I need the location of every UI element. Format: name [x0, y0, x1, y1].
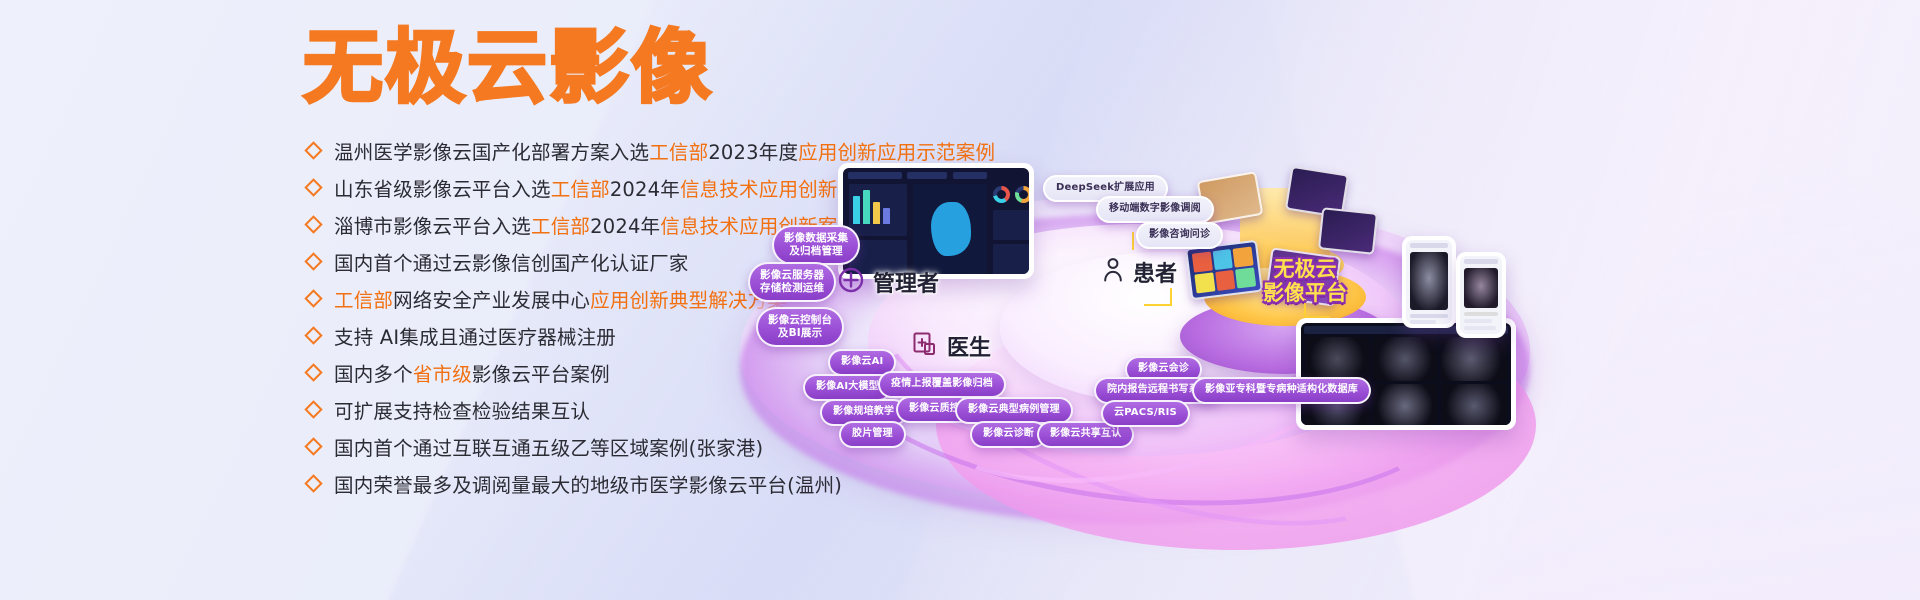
pill-film-management[interactable]: 胶片管理 [839, 421, 906, 448]
bullet-text-segment: 温州医学影像云国产化部署方案入选 [334, 141, 649, 164]
center-badge-line1: 无极云 [1230, 258, 1380, 282]
pill-line: 及归档管理 [784, 245, 848, 258]
pill-line: 存储检测运维 [760, 282, 824, 295]
bullet-text-segment: 影像云平台案例 [472, 363, 610, 386]
pill-image-data-capture[interactable]: 影像数据采集及归档管理 [772, 225, 860, 265]
pill-image-cloud-typical-case[interactable]: 影像云典型病例管理 [955, 397, 1073, 424]
bullet-text-segment: 2024年 [590, 215, 660, 238]
bullet-text-segment: 省市级 [413, 363, 472, 386]
diamond-icon [304, 141, 322, 159]
pill-line: 影像云会诊 [1138, 363, 1189, 376]
diamond-icon [304, 400, 322, 418]
role-patient-label: 患者 [1133, 256, 1177, 288]
bullet-text-segment: 2024年 [610, 178, 680, 201]
pill-line: 云PACS/RIS [1114, 407, 1177, 420]
pill-line: 影像云AI [841, 356, 883, 369]
pill-line: DeepSeek扩展应用 [1056, 182, 1155, 195]
ct-viewer-screen [1301, 323, 1511, 425]
connector-line [1132, 232, 1134, 250]
page-title: 无极云影像 [303, 28, 713, 108]
diamond-icon [304, 363, 322, 381]
medical-record-icon [912, 331, 938, 362]
dashboard-tablet [838, 163, 1034, 279]
pill-line: 影像AI大模型 [816, 381, 879, 394]
role-admin: 管理者 [838, 266, 939, 298]
role-patient: 患者 [1102, 256, 1177, 288]
diamond-icon [304, 252, 322, 270]
pill-line: 疫情上报覆盖影像归档 [891, 378, 993, 391]
platform-diagram: 无极云 影像平台 [700, 0, 1920, 600]
dashboard-screen [843, 168, 1029, 274]
bullet-text-segment: 工信部 [531, 215, 590, 238]
bullet-text-segment: 可扩展支持检查检验结果互认 [334, 400, 590, 423]
pill-rare-disease-db[interactable]: 影像亚专科暨专病种适构化数据库 [1192, 377, 1371, 404]
person-icon [1102, 257, 1124, 288]
bullet-text-segment: 国内首个通过云影像信创国产化认证厂家 [334, 252, 689, 275]
bullet-text-segment: 国内多个 [334, 363, 413, 386]
pill-image-cloud-console[interactable]: 影像云控制台及BI展示 [756, 307, 844, 347]
bullet-text-segment: 支持 AI集成且通过医疗器械注册 [334, 326, 616, 349]
patient-phone-xray [1402, 236, 1456, 328]
feature-bullet-text: 国内首个通过互联互通五级乙等区域案例(张家港) [334, 432, 763, 461]
pill-line: 影像云共享互认 [1050, 428, 1121, 441]
feature-bullet-text: 可扩展支持检查检验结果互认 [334, 395, 590, 424]
role-admin-label: 管理者 [873, 266, 939, 298]
banner-canvas: 无极云影像 温州医学影像云国产化部署方案入选工信部2023年度应用创新应用示范案… [0, 0, 1920, 600]
pill-line: 胶片管理 [852, 428, 893, 441]
connector-line [1144, 304, 1172, 306]
center-platform-badge: 无极云 影像平台 [1230, 258, 1380, 305]
pill-cloud-pacs-ris[interactable]: 云PACS/RIS [1101, 400, 1190, 427]
diamond-icon [304, 326, 322, 344]
diamond-icon [304, 178, 322, 196]
scan-image-tile [1318, 207, 1378, 255]
patient-phone-screen [1406, 240, 1452, 324]
pill-image-cloud-server[interactable]: 影像云服务器存储检测运维 [748, 262, 836, 302]
feature-bullet-text: 支持 AI集成且通过医疗器械注册 [334, 321, 616, 350]
bullet-text-segment: 工信部 [551, 178, 610, 201]
bullet-text-segment: 淄博市影像云平台入选 [334, 215, 531, 238]
patient-phone-screen [1460, 256, 1502, 334]
bullet-text-segment: 工信部 [334, 289, 393, 312]
role-doctor: 医生 [912, 330, 991, 362]
pill-line: 影像云服务器 [760, 269, 824, 282]
bullet-text-segment: 网络安全产业发展中心 [393, 289, 590, 312]
diamond-icon [304, 289, 322, 307]
bullet-text-segment: 国内首个通过互联互通五级乙等区域案例(张家港) [334, 437, 763, 460]
diamond-icon [304, 215, 322, 233]
pill-line: 影像亚专科暨专病种适构化数据库 [1205, 384, 1358, 397]
bullet-text-segment: 山东省级影像云平台入选 [334, 178, 551, 201]
pill-image-cloud-diagnosis[interactable]: 影像云诊断 [970, 421, 1047, 448]
pill-line: 影像数据采集 [784, 232, 848, 245]
pill-epidemic-report[interactable]: 疫情上报覆盖影像归档 [878, 371, 1006, 398]
pill-line: 影像咨询问诊 [1149, 229, 1210, 242]
pill-mobile-image-access[interactable]: 移动端数字影像调阅 [1096, 196, 1214, 223]
hospital-cross-icon [838, 267, 864, 298]
diamond-icon [304, 437, 322, 455]
center-badge-line2: 影像平台 [1230, 282, 1380, 306]
diamond-icon [304, 474, 322, 492]
pill-image-consult-clinic[interactable]: 影像咨询问诊 [1136, 222, 1223, 249]
pill-line: 及BI展示 [768, 327, 832, 340]
pill-line: 影像规培教学 [833, 406, 894, 419]
role-doctor-label: 医生 [947, 330, 991, 362]
pill-line: 影像云诊断 [983, 428, 1034, 441]
patient-phone-report [1456, 252, 1506, 338]
pill-line: 移动端数字影像调阅 [1109, 203, 1201, 216]
pill-line: 影像云典型病例管理 [968, 404, 1060, 417]
feature-bullet-text: 国内首个通过云影像信创国产化认证厂家 [334, 247, 689, 276]
pill-line: 影像云质控 [909, 403, 960, 416]
pill-line: 影像云控制台 [768, 314, 832, 327]
feature-bullet-text: 国内多个省市级影像云平台案例 [334, 358, 610, 387]
